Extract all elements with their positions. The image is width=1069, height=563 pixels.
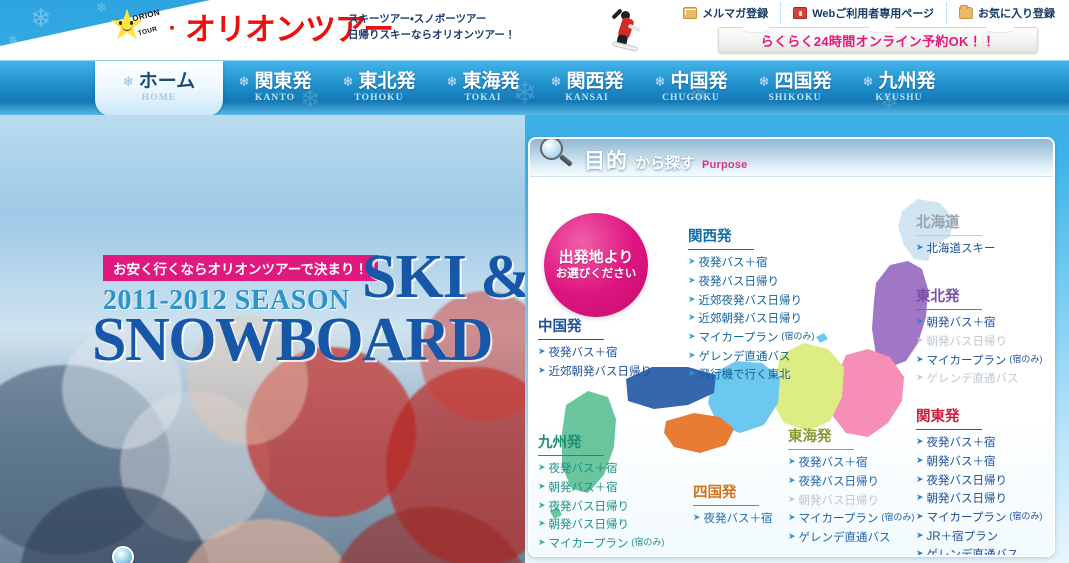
region-group-chugoku: 中国発➤夜発バス＋宿➤近郊朝発バス日帰り <box>538 319 652 382</box>
purpose-search-panel: 目的 から探す Purpose <box>528 137 1055 557</box>
region-link-shikoku-0[interactable]: ➤夜発バス＋宿 <box>693 510 773 529</box>
arrow-bullet-icon: ➤ <box>538 479 546 496</box>
panel-title-english: Purpose <box>702 159 747 171</box>
region-link-label: マイカープラン <box>927 352 1007 371</box>
region-link-label: 朝発バス＋宿 <box>927 453 996 472</box>
nav-item-label: 四国発 <box>774 72 831 92</box>
region-link-kanto-5[interactable]: ➤JR＋宿プラン <box>916 528 1042 547</box>
carousel-indicator[interactable] <box>112 546 134 563</box>
arrow-bullet-icon: ➤ <box>916 240 924 257</box>
arrow-bullet-icon: ➤ <box>538 344 546 361</box>
panel-title-strong: 目的 <box>584 145 628 175</box>
region-group-kansai: 関西発➤夜発バス＋宿➤夜発バス日帰り➤近郊夜発バス日帰り➤近郊朝発バス日帰り➤マ… <box>688 229 814 385</box>
region-link-label: 朝発バス＋宿 <box>927 314 996 333</box>
region-link-label: 朝発バス日帰り <box>799 492 880 511</box>
region-link-tohoku-1: ➤朝発バス日帰り <box>916 333 1042 352</box>
hero-ski-text: SKI & <box>362 248 525 307</box>
top-link-member-page[interactable]: Webご利用者専用ページ <box>781 3 947 23</box>
region-link-tokai-2: ➤朝発バス日帰り <box>788 492 914 511</box>
nav-item-sublabel: TOKAI <box>464 93 501 103</box>
region-link-tokai-3[interactable]: ➤マイカープラン(宿のみ) <box>788 510 914 529</box>
nav-item-sublabel: TOHOKU <box>354 93 403 103</box>
arrow-bullet-icon: ➤ <box>688 329 696 346</box>
region-link-tohoku-2[interactable]: ➤マイカープラン(宿のみ) <box>916 352 1042 371</box>
main-navigation: ❄ ❄ ❄ ❄ ❄ホームHOME❄関東発KANTO❄東北発TOHOKU❄東海発T… <box>0 60 1069 115</box>
region-group-title: 関東発 <box>916 409 1042 428</box>
arrow-bullet-icon: ➤ <box>916 472 924 489</box>
region-link-label: 近郊朝発バス日帰り <box>549 363 653 382</box>
region-group-kyushu: 九州発➤夜発バス＋宿➤朝発バス＋宿➤夜発バス日帰り➤朝発バス日帰り➤マイカープラ… <box>538 435 664 557</box>
arrow-bullet-icon: ➤ <box>538 554 546 557</box>
region-link-label: マイカープラン <box>927 509 1007 528</box>
region-link-label: マイカープラン <box>549 535 629 554</box>
region-link-label: 朝発バス日帰り <box>927 490 1008 509</box>
nav-item-label: 中国発 <box>670 72 727 92</box>
arrow-bullet-icon: ➤ <box>538 535 546 552</box>
top-link-label: Webご利用者専用ページ <box>812 5 934 21</box>
region-link-label: 近郊夜発バス日帰り <box>699 292 803 311</box>
region-link-tohoku-3: ➤ゲレンデ直通バス <box>916 370 1042 389</box>
nav-item-sublabel: HOME <box>142 93 176 103</box>
region-link-kansai-1[interactable]: ➤夜発バス日帰り <box>688 273 814 292</box>
region-group-tokai: 東海発➤夜発バス＋宿➤夜発バス日帰り➤朝発バス日帰り➤マイカープラン(宿のみ)➤… <box>788 429 914 548</box>
region-link-label: 朝発バス日帰り <box>927 333 1008 352</box>
region-link-label: 北海道スキー <box>927 240 996 259</box>
region-group-kanto: 関東発➤夜発バス＋宿➤朝発バス＋宿➤夜発バス日帰り➤朝発バス日帰り➤マイカープラ… <box>916 409 1042 557</box>
region-link-label: ゲレンデ直通バス <box>699 348 791 367</box>
region-link-kanto-2[interactable]: ➤夜発バス日帰り <box>916 472 1042 491</box>
arrow-bullet-icon: ➤ <box>788 510 796 527</box>
region-link-label: 飛行機で行く東北 <box>549 554 641 557</box>
nav-item-shikoku[interactable]: ❄四国発SHIKOKU <box>743 61 847 116</box>
region-group-underline <box>538 455 604 456</box>
region-link-kansai-5[interactable]: ➤ゲレンデ直通バス <box>688 348 814 367</box>
region-link-kyushu-2[interactable]: ➤夜発バス日帰り <box>538 498 664 517</box>
arrow-bullet-icon: ➤ <box>688 310 696 327</box>
arrow-bullet-icon: ➤ <box>688 348 696 365</box>
region-group-underline <box>916 309 982 310</box>
arrow-bullet-icon: ➤ <box>538 516 546 533</box>
arrow-bullet-icon: ➤ <box>788 454 796 471</box>
region-link-hokkaido-0[interactable]: ➤北海道スキー <box>916 240 996 259</box>
region-link-label: 夜発バス＋宿 <box>927 434 996 453</box>
panel-body: 出発地より お選びください 中国発➤夜発バス＋宿➤近郊朝発バス日帰り九州発➤夜発… <box>530 177 1053 557</box>
region-group-title: 東海発 <box>788 429 914 448</box>
region-link-kyushu-1[interactable]: ➤朝発バス＋宿 <box>538 479 664 498</box>
hero-ribbon: お安く行くならオリオンツアーで決まり！ <box>103 255 378 281</box>
snow-cap-decoration <box>869 22 895 32</box>
page-root: ❄ ❄ ❄ ❄ ORION TOUR ・ オリオンツアー スキーツアー・スノボー… <box>0 0 1069 563</box>
region-group-title: 関西発 <box>688 229 814 248</box>
region-link-kanto-6[interactable]: ➤ゲレンデ直通バス <box>916 546 1042 557</box>
panel-title-normal: から探す <box>635 152 695 173</box>
region-link-kyushu-3[interactable]: ➤朝発バス日帰り <box>538 516 664 535</box>
region-link-chugoku-0[interactable]: ➤夜発バス＋宿 <box>538 344 652 363</box>
region-link-kyushu-0[interactable]: ➤夜発バス＋宿 <box>538 460 664 479</box>
region-group-title: 北海道 <box>916 215 996 234</box>
arrow-bullet-icon: ➤ <box>788 492 796 509</box>
region-link-note: (宿のみ) <box>881 510 914 525</box>
navigation-items: ❄ホームHOME❄関東発KANTO❄東北発TOHOKU❄東海発TOKAI❄関西発… <box>95 61 1069 116</box>
nav-item-label: ホーム <box>139 72 195 92</box>
map-region-sado <box>816 333 828 343</box>
arrow-bullet-icon: ➤ <box>916 453 924 470</box>
region-group-underline <box>788 449 854 450</box>
region-link-kanto-3[interactable]: ➤朝発バス日帰り <box>916 490 1042 509</box>
region-link-note: (宿のみ) <box>1009 352 1042 367</box>
region-group-title: 九州発 <box>538 435 664 454</box>
region-link-label: マイカープラン <box>799 510 879 529</box>
snowflake-icon: ❄ <box>96 2 107 15</box>
region-link-label: 夜発バス＋宿 <box>549 344 618 363</box>
region-group-underline <box>688 249 754 250</box>
region-link-kansai-0[interactable]: ➤夜発バス＋宿 <box>688 254 814 273</box>
region-group-underline <box>916 429 982 430</box>
region-link-tokai-1[interactable]: ➤夜発バス日帰り <box>788 473 914 492</box>
region-group-underline <box>693 505 759 506</box>
region-link-label: 夜発バス日帰り <box>799 473 880 492</box>
region-link-kansai-6[interactable]: ➤飛行機で行く東北 <box>688 366 814 385</box>
region-link-label: 夜発バス＋宿 <box>704 510 773 529</box>
region-link-label: 朝発バス日帰り <box>549 516 630 535</box>
tagline-line-1: スキーツアー・スノボーツアー <box>348 12 515 28</box>
region-link-label: 夜発バス＋宿 <box>549 460 618 479</box>
nav-item-chugoku[interactable]: ❄中国発CHUGOKU <box>639 61 743 116</box>
arrow-bullet-icon: ➤ <box>538 363 546 380</box>
logo-separator-dot: ・ <box>164 15 180 39</box>
top-link-favorites[interactable]: お気に入り登録 <box>947 3 1063 23</box>
snow-cap-decoration <box>743 22 769 32</box>
region-link-label: マイカープラン <box>699 329 779 348</box>
region-link-label: ゲレンデ直通バス <box>927 370 1019 389</box>
region-link-note: (宿のみ) <box>631 535 664 550</box>
nav-item-sublabel: CHUGOKU <box>662 93 720 103</box>
region-link-kansai-2[interactable]: ➤近郊夜発バス日帰り <box>688 292 814 311</box>
magnifier-icon <box>536 137 576 175</box>
online-reservation-banner[interactable]: らくらく24時間オンライン予約OK！！ <box>718 27 1038 53</box>
folder-icon <box>959 7 973 19</box>
region-link-kansai-3[interactable]: ➤近郊朝発バス日帰り <box>688 310 814 329</box>
arrow-bullet-icon: ➤ <box>916 370 924 387</box>
nav-item-sublabel: KANTO <box>255 93 295 103</box>
region-group-title: 中国発 <box>538 319 652 338</box>
arrow-bullet-icon: ➤ <box>538 498 546 515</box>
region-link-kansai-4[interactable]: ➤マイカープラン(宿のみ) <box>688 329 814 348</box>
region-link-note: (宿のみ) <box>1009 509 1042 524</box>
site-tagline: スキーツアー・スノボーツアー 日帰りスキーならオリオンツアー！ <box>348 12 515 44</box>
arrow-bullet-icon: ➤ <box>688 366 696 383</box>
region-link-label: 夜発バス＋宿 <box>799 454 868 473</box>
region-link-label: 朝発バス＋宿 <box>549 479 618 498</box>
region-link-tohoku-0[interactable]: ➤朝発バス＋宿 <box>916 314 1042 333</box>
snowflake-icon: ❄ <box>655 76 666 89</box>
region-link-chugoku-1[interactable]: ➤近郊朝発バス日帰り <box>538 363 652 382</box>
snowflake-icon: ❄ <box>123 76 134 89</box>
departure-point-badge[interactable]: 出発地より お選びください <box>544 213 648 317</box>
region-link-kanto-4[interactable]: ➤マイカープラン(宿のみ) <box>916 509 1042 528</box>
top-link-label: お気に入り登録 <box>978 5 1055 21</box>
hero-snowboard-text: SNOWBOARD <box>92 311 492 370</box>
region-link-label: 夜発バス日帰り <box>927 472 1008 491</box>
star-logo-icon: ORION TOUR <box>108 7 164 47</box>
arrow-bullet-icon: ➤ <box>538 460 546 477</box>
arrow-bullet-icon: ➤ <box>916 434 924 451</box>
region-link-label: 夜発バス＋宿 <box>699 254 768 273</box>
nav-item-tokai[interactable]: ❄東海発TOKAI <box>431 61 535 116</box>
nav-item-home[interactable]: ❄ホームHOME <box>95 61 223 116</box>
region-link-kyushu-4[interactable]: ➤マイカープラン(宿のみ) <box>538 535 664 554</box>
logo-orion-word: ORION <box>131 7 161 23</box>
nav-item-label: 関東発 <box>254 72 311 92</box>
snowflake-icon: ❄ <box>30 6 52 32</box>
snowflake-icon: ❄ <box>239 76 250 89</box>
region-link-tokai-4[interactable]: ➤ゲレンデ直通バス <box>788 529 914 548</box>
mail-icon <box>683 7 697 19</box>
arrow-bullet-icon: ➤ <box>788 473 796 490</box>
nav-item-sublabel: KYUSHU <box>875 93 922 103</box>
nav-item-tohoku[interactable]: ❄東北発TOHOKU <box>327 61 431 116</box>
arrow-bullet-icon: ➤ <box>688 254 696 271</box>
panel-title: 目的 から探す Purpose <box>584 145 747 175</box>
badge-line-2: お選びください <box>556 268 637 281</box>
arrow-bullet-icon: ➤ <box>916 490 924 507</box>
region-group-hokkaido: 北海道➤北海道スキー <box>916 215 996 259</box>
arrow-bullet-icon: ➤ <box>916 528 924 545</box>
snowflake-icon: ❄ <box>343 76 354 89</box>
map-region-kanto[interactable] <box>832 349 904 437</box>
nav-item-kansai[interactable]: ❄関西発KANSAI <box>535 61 639 116</box>
region-link-label: ゲレンデ直通バス <box>799 529 891 548</box>
nav-item-label: 関西発 <box>566 72 623 92</box>
snowflake-icon: ❄ <box>759 76 770 89</box>
region-group-shikoku: 四国発➤夜発バス＋宿 <box>693 485 773 529</box>
arrow-bullet-icon: ➤ <box>688 273 696 290</box>
region-group-tohoku: 東北発➤朝発バス＋宿➤朝発バス日帰り➤マイカープラン(宿のみ)➤ゲレンデ直通バス <box>916 289 1042 389</box>
arrow-bullet-icon: ➤ <box>688 292 696 309</box>
badge-line-1: 出発地より <box>559 249 634 266</box>
nav-item-sublabel: KANSAI <box>565 93 609 103</box>
logo-tour-word: TOUR <box>137 25 158 37</box>
region-link-kanto-1[interactable]: ➤朝発バス＋宿 <box>916 453 1042 472</box>
region-group-title: 四国発 <box>693 485 773 504</box>
region-link-label: 近郊朝発バス日帰り <box>699 310 803 329</box>
snowboarder-icon <box>608 8 646 54</box>
snowflake-icon: ❄ <box>551 76 562 89</box>
arrow-bullet-icon: ➤ <box>788 529 796 546</box>
nav-item-label: 東北発 <box>358 72 415 92</box>
region-link-label: 夜発バス日帰り <box>549 498 630 517</box>
region-link-label: JR＋宿プラン <box>927 528 999 547</box>
arrow-bullet-icon: ➤ <box>916 314 924 331</box>
region-link-tokai-0[interactable]: ➤夜発バス＋宿 <box>788 454 914 473</box>
arrow-bullet-icon: ➤ <box>916 352 924 369</box>
nav-item-kanto[interactable]: ❄関東発KANTO <box>223 61 327 116</box>
snowflake-icon: ❄ <box>863 76 874 89</box>
region-group-underline <box>538 339 604 340</box>
region-link-kanto-0[interactable]: ➤夜発バス＋宿 <box>916 434 1042 453</box>
tagline-line-2: 日帰りスキーならオリオンツアー！ <box>348 28 515 44</box>
arrow-bullet-icon: ➤ <box>916 546 924 557</box>
nav-item-kyushu[interactable]: ❄九州発KYUSHU <box>847 61 951 116</box>
region-link-note: (宿のみ) <box>781 329 814 344</box>
region-group-title: 東北発 <box>916 289 1042 308</box>
promo-banner-text: らくらく24時間オンライン予約OK！！ <box>761 31 996 50</box>
top-link-mailmagazine[interactable]: メルマガ登録 <box>671 3 781 23</box>
hero-ribbon-text: お安く行くならオリオンツアーで決まり！ <box>113 258 368 278</box>
arrow-bullet-icon: ➤ <box>693 510 701 527</box>
top-link-label: メルマガ登録 <box>702 5 768 21</box>
nav-item-sublabel: SHIKOKU <box>768 93 821 103</box>
region-group-underline <box>916 235 982 236</box>
region-link-label: 夜発バス日帰り <box>699 273 780 292</box>
region-link-kyushu-5[interactable]: ➤飛行機で行く東北 <box>538 554 664 557</box>
arrow-bullet-icon: ➤ <box>916 509 924 526</box>
hero-banner[interactable]: お安く行くならオリオンツアーで決まり！ 2011-2012 SEASON SKI… <box>0 115 525 563</box>
region-link-label: ゲレンデ直通バス <box>927 546 1019 557</box>
region-link-label: 飛行機で行く東北 <box>699 366 791 385</box>
utility-links: メルマガ登録 Webご利用者専用ページ お気に入り登録 <box>671 3 1063 23</box>
nav-item-label: 九州発 <box>878 72 935 92</box>
snow-cap-decoration <box>987 22 1013 32</box>
site-header: ❄ ❄ ❄ ❄ ORION TOUR ・ オリオンツアー スキーツアー・スノボー… <box>0 0 1069 60</box>
lock-icon <box>793 7 807 19</box>
snowflake-icon: ❄ <box>447 76 458 89</box>
nav-item-label: 東海発 <box>462 72 519 92</box>
panel-header: 目的 から探す Purpose <box>530 139 1053 177</box>
arrow-bullet-icon: ➤ <box>916 333 924 350</box>
